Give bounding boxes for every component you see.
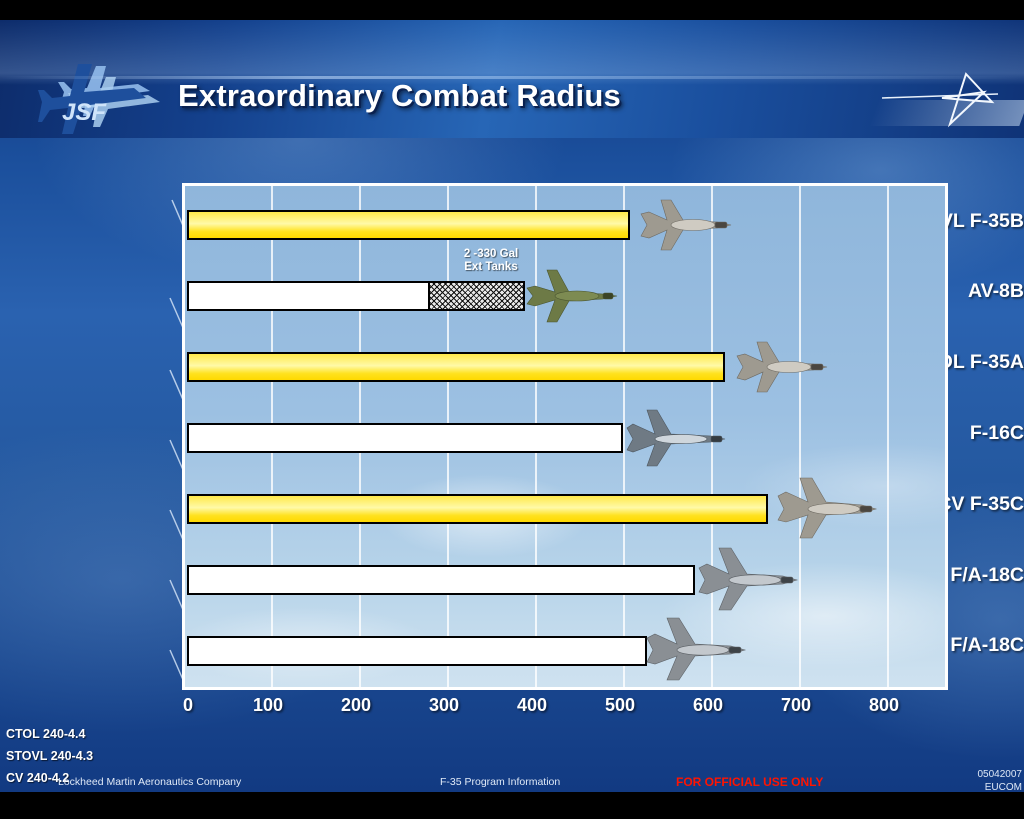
x-label-8: 800 [869, 695, 899, 716]
footer-date-command: 05042007EUCOM [978, 768, 1023, 792]
page-title: Extraordinary Combat Radius [178, 78, 621, 114]
chart-plot-area: 2 -330 Gal Ext Tanks [182, 183, 948, 690]
x-label-7: 700 [781, 695, 811, 716]
x-label-4: 400 [517, 695, 547, 716]
footer-command: EUCOM [985, 782, 1022, 792]
bar-ctol-f-35a[interactable] [187, 352, 725, 382]
aircraft-icon-f-35c [770, 474, 882, 544]
footer-date: 05042007 [978, 769, 1023, 780]
jsf-logo: JSF [38, 58, 164, 142]
x-label-3: 300 [429, 695, 459, 716]
aircraft-icon-fa-18c-1 [693, 544, 803, 614]
bar-cv-f-35c[interactable] [187, 494, 768, 524]
gridline-800 [887, 186, 889, 687]
footer-company: Lockheed Martin Aeronautics Company [58, 776, 241, 788]
bar-stovl-f-35b[interactable] [187, 210, 630, 240]
aircraft-icon-f-16c [623, 406, 731, 470]
bar-fa-18c-2[interactable] [187, 636, 647, 666]
jsf-logo-text: JSF [62, 99, 107, 126]
bar-fa-18c-1[interactable] [187, 565, 695, 595]
x-label-6: 600 [693, 695, 723, 716]
x-label-0: 0 [183, 695, 193, 716]
x-label-1: 100 [253, 695, 283, 716]
aircraft-icon-fa-18c-2 [641, 614, 751, 684]
title-banner: JSF Extraordinary Combat Radius [0, 20, 1024, 138]
bar-f-16c[interactable] [187, 423, 623, 453]
lockheed-martin-star-icon [880, 68, 1010, 130]
note-ctol: CTOL 240-4.4 [6, 727, 85, 741]
aircraft-icon-f-35b [631, 194, 736, 256]
footer-program: F-35 Program Information [440, 776, 560, 788]
aircraft-icon-av-8b [521, 264, 623, 328]
note-stovl: STOVL 240-4.3 [6, 749, 93, 763]
bar-av-8b-ext-tanks[interactable] [428, 281, 525, 311]
slide-canvas: JSF Extraordinary Combat Radius STOVL F-… [0, 20, 1024, 792]
x-label-2: 200 [341, 695, 371, 716]
footer-classification: FOR OFFICIAL USE ONLY [676, 775, 823, 789]
x-label-5: 500 [605, 695, 635, 716]
bar-av-8b-internal[interactable] [187, 281, 430, 311]
aircraft-icon-f-35a [727, 336, 832, 398]
